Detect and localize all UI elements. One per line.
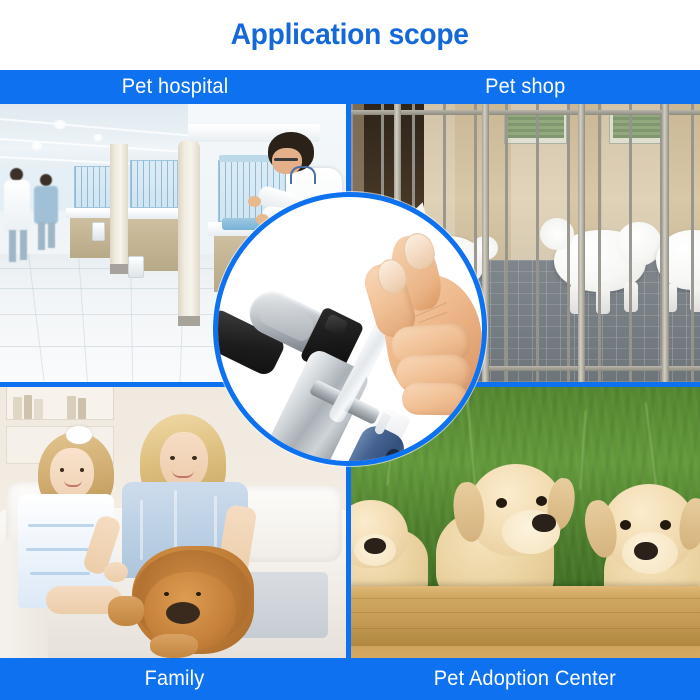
cage-post <box>578 104 585 382</box>
dog-paw <box>108 596 144 626</box>
clinic-pillar <box>110 144 128 274</box>
puppy-eye <box>620 520 631 530</box>
label-cell-pet-adoption-center: Pet Adoption Center <box>350 658 700 700</box>
dog-paw <box>150 634 198 658</box>
girl-hand <box>104 562 128 582</box>
bookshelf <box>6 386 114 420</box>
vet-glasses <box>274 158 298 161</box>
label-family: Family <box>145 667 205 691</box>
girl-face <box>50 448 94 498</box>
dog-eye <box>164 592 169 596</box>
page-title: Application scope <box>231 18 469 52</box>
puppy-nose <box>532 514 556 532</box>
application-scope-poster: Application scope <box>0 0 700 700</box>
cage-rail <box>350 110 700 115</box>
girl-eye <box>60 468 64 472</box>
label-pet-adoption-center: Pet Adoption Center <box>434 667 616 691</box>
cage-post <box>662 104 669 382</box>
puppy-nose <box>634 542 658 560</box>
clinic-pillar <box>178 140 200 326</box>
ceiling-light <box>92 134 104 141</box>
wooden-fence-rail <box>350 586 700 646</box>
label-cell-pet-shop: Pet shop <box>350 70 700 104</box>
bottom-label-band: Family Pet Adoption Center <box>0 658 700 700</box>
clinic-bin <box>92 222 105 241</box>
ceiling-light <box>52 120 68 129</box>
dog-eye <box>196 592 201 596</box>
puppy-eye <box>536 496 547 506</box>
little-finger <box>402 382 469 415</box>
woman-eye <box>170 456 175 460</box>
puppy-nose <box>364 538 386 554</box>
ceiling-light <box>30 142 44 150</box>
puppy-eye <box>660 520 671 530</box>
hair-bow <box>66 426 92 444</box>
clinic-bin <box>128 256 144 278</box>
header: Application scope <box>0 0 700 70</box>
puppy-eye <box>496 498 507 508</box>
woman-eye <box>192 456 197 460</box>
label-cell-family: Family <box>0 658 350 700</box>
dog-muzzle <box>166 602 200 624</box>
label-pet-shop: Pet shop <box>485 75 565 99</box>
girl-eye <box>80 468 84 472</box>
stethoscope <box>290 166 316 184</box>
product-circle-badge <box>213 192 487 466</box>
vet-hand <box>248 196 261 207</box>
label-pet-hospital: Pet hospital <box>122 75 229 99</box>
label-cell-pet-hospital: Pet hospital <box>0 70 350 104</box>
top-label-band: Pet hospital Pet shop <box>0 70 700 104</box>
clinic-cage <box>130 160 178 208</box>
